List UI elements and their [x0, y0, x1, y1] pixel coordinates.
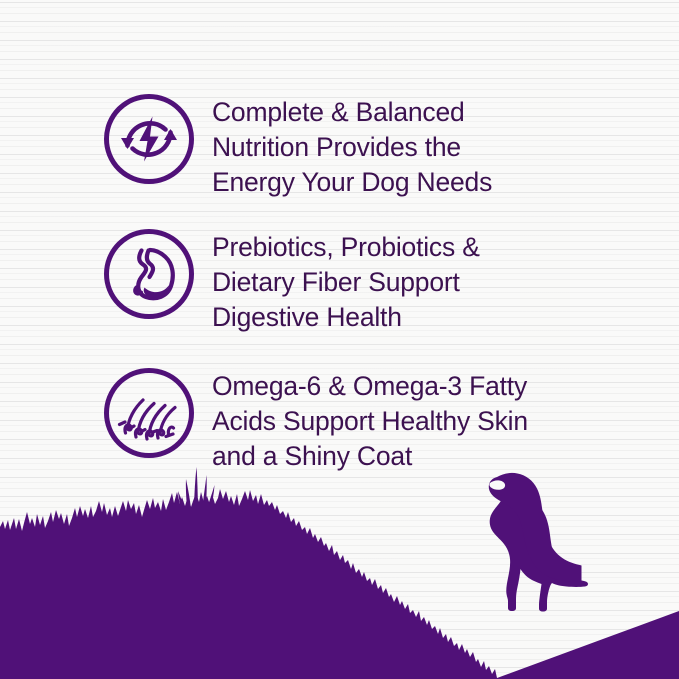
grass-hill-with-dog-silhouette	[0, 459, 679, 679]
benefit-item-digestion: Prebiotics, Probiotics & Dietary Fiber S…	[103, 228, 480, 335]
benefit-label-coat: Omega-6 & Omega-3 Fatty Acids Support He…	[212, 367, 528, 474]
hair-follicle-coat-icon	[103, 367, 195, 459]
benefit-item-energy: Complete & Balanced Nutrition Provides t…	[103, 93, 492, 200]
benefit-label-digestion: Prebiotics, Probiotics & Dietary Fiber S…	[212, 228, 480, 335]
benefit-label-energy: Complete & Balanced Nutrition Provides t…	[212, 93, 492, 200]
stomach-digestion-icon	[103, 228, 195, 320]
sitting-dog-silhouette	[489, 473, 588, 612]
benefit-item-coat: Omega-6 & Omega-3 Fatty Acids Support He…	[103, 367, 528, 474]
energy-refresh-icon	[103, 93, 195, 185]
infographic-panel: Complete & Balanced Nutrition Provides t…	[0, 0, 679, 679]
